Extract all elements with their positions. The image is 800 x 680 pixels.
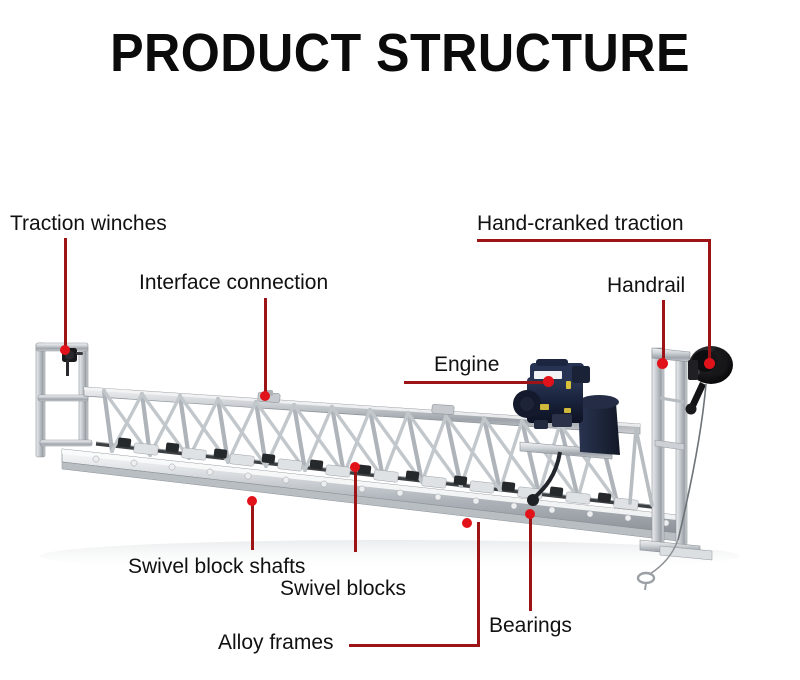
leader-dot-swivel-block-shafts <box>247 496 257 506</box>
leader-dot-bearings <box>525 509 535 519</box>
leader-dot-interface-connection <box>260 391 270 401</box>
leader-alloy-frames-rise <box>477 522 480 646</box>
callout-label-engine: Engine <box>434 352 499 377</box>
leader-dot-traction-winches <box>60 345 70 355</box>
product-structure-diagram: PRODUCT STRUCTURE <box>0 0 800 680</box>
leader-alloy-frames-run <box>349 644 480 647</box>
callout-label-traction-winches: Traction winches <box>10 211 167 236</box>
callout-label-swivel-blocks: Swivel blocks <box>280 576 406 601</box>
leader-hand-cranked-underline <box>477 239 711 242</box>
leader-dot-alloy-frames <box>462 518 472 528</box>
callout-label-bearings: Bearings <box>489 613 572 638</box>
interface-connection-clamp-2 <box>432 404 455 414</box>
leader-engine <box>404 381 548 384</box>
leader-hand-cranked-drop <box>708 239 711 361</box>
callout-label-swivel-block-shafts: Swivel block shafts <box>128 554 305 579</box>
leader-swivel-block-shafts <box>251 500 254 550</box>
leader-traction-winches <box>64 238 67 348</box>
leader-dot-engine <box>543 376 554 387</box>
cable-hook <box>638 573 654 590</box>
leader-dot-handrail <box>657 358 668 369</box>
callout-label-hand-cranked-traction: Hand-cranked traction <box>477 211 684 236</box>
leader-dot-swivel-blocks <box>350 462 360 472</box>
leader-bearings <box>529 513 532 611</box>
left-end-frame <box>36 343 92 457</box>
leader-dot-hand-cranked-traction <box>704 358 715 369</box>
callout-label-alloy-frames: Alloy frames <box>218 630 334 655</box>
leader-handrail <box>662 300 665 362</box>
leader-swivel-blocks <box>354 466 357 552</box>
leader-interface-connection <box>264 298 267 396</box>
callout-label-handrail: Handrail <box>607 273 685 298</box>
callout-label-interface-connection: Interface connection <box>139 270 328 295</box>
